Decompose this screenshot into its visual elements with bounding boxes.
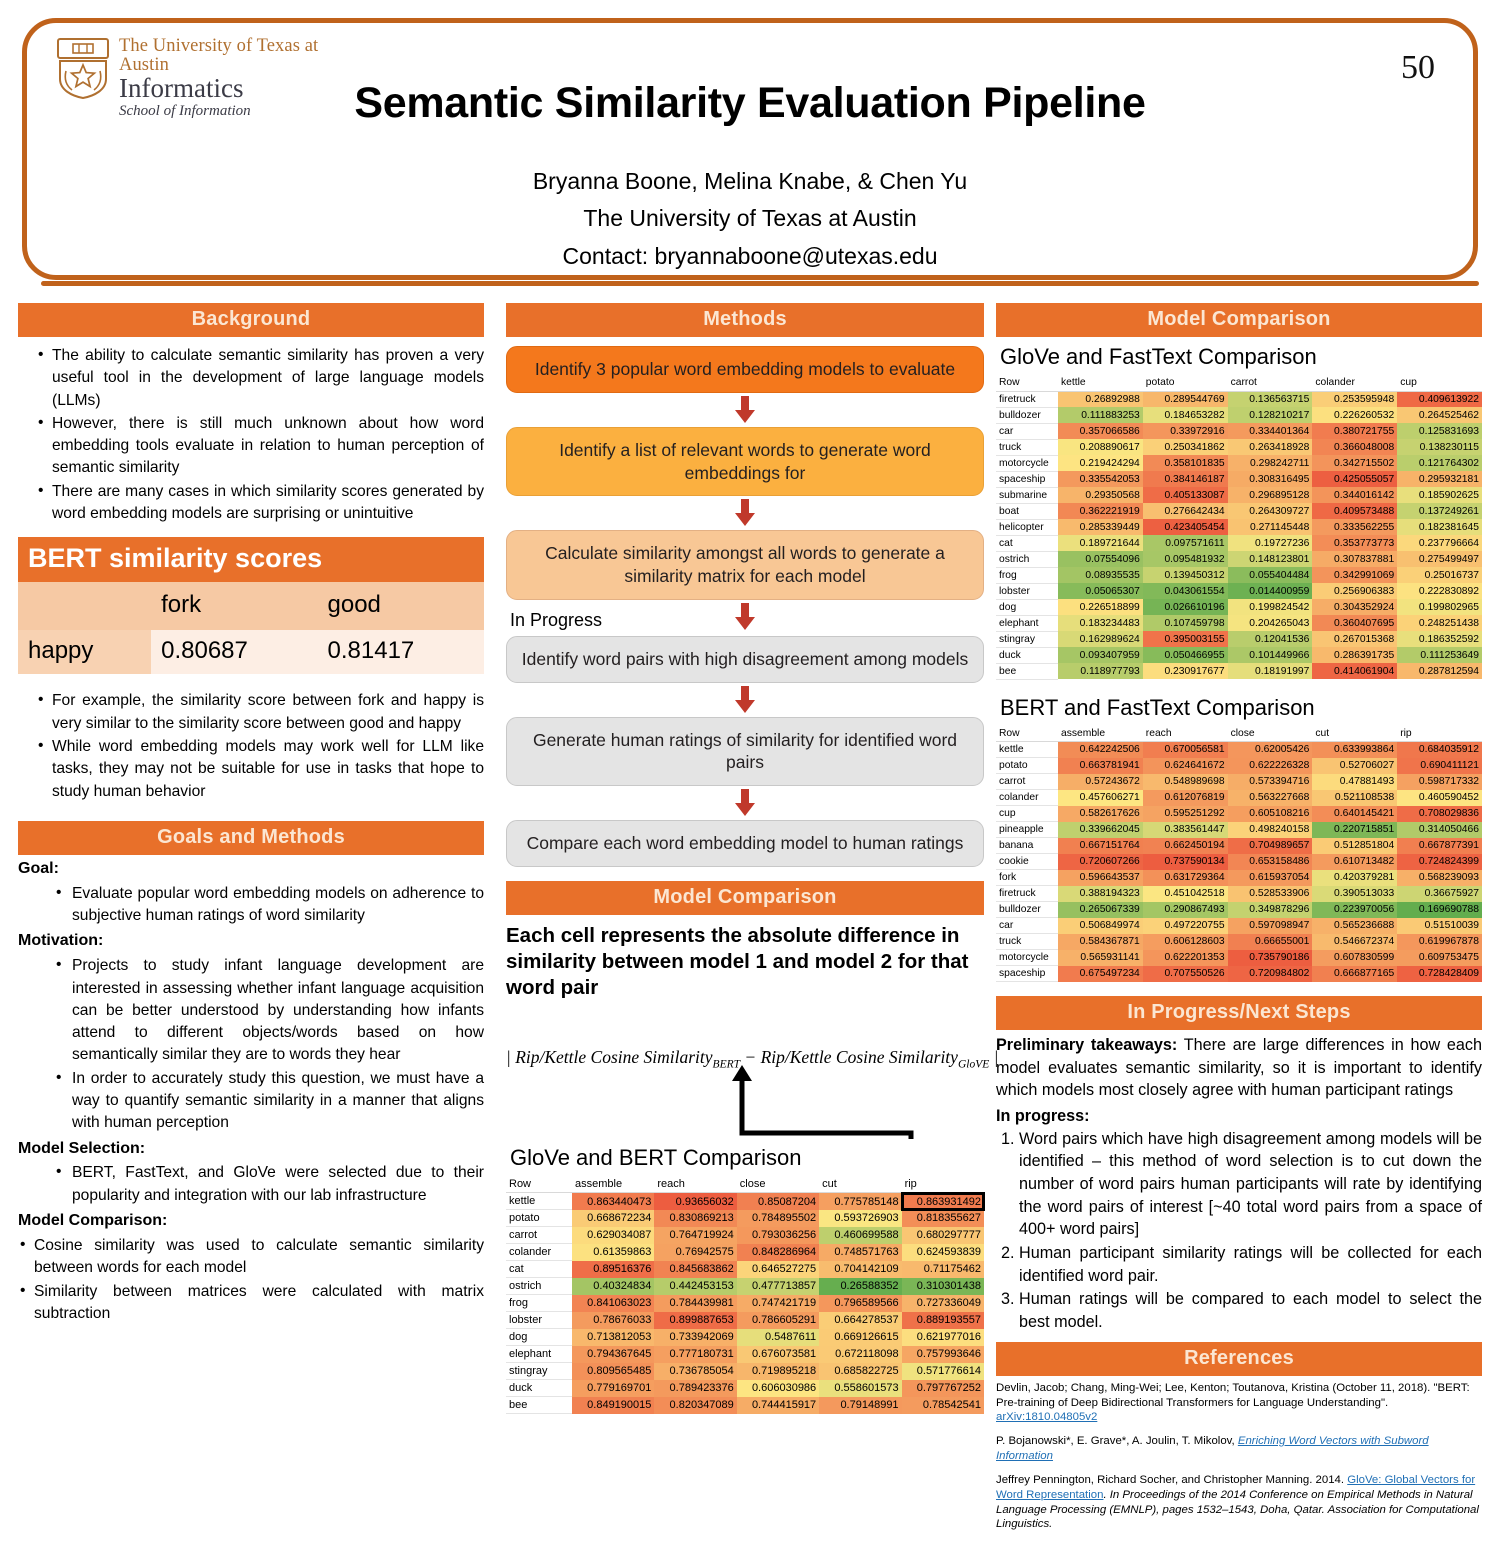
- heatmap-cell: 0.662450194: [1143, 838, 1228, 854]
- in-progress-label: In progress:: [996, 1105, 1482, 1128]
- table-header-cell: Row: [996, 726, 1058, 742]
- table-cell: 0.81417: [318, 630, 484, 674]
- heatmap-cell: 0.78542541: [902, 1397, 984, 1414]
- bert-similarity-scores-table: BERT similarity scores fork good happy 0…: [18, 537, 484, 674]
- row-label: boat: [996, 503, 1058, 519]
- heatmap-cell: 0.863440473: [572, 1193, 654, 1210]
- row-label: colander: [506, 1244, 572, 1261]
- heatmap-cell: 0.735790186: [1228, 950, 1313, 966]
- heatmap-cell: 0.08935535: [1058, 567, 1143, 583]
- row-label: kettle: [506, 1193, 572, 1210]
- table-row: submarine0.293505680.4051330870.29689512…: [996, 487, 1482, 503]
- motivation-bullets: Projects to study infant language develo…: [40, 955, 484, 1134]
- table-header-row: Row kettle potato carrot colander cup: [996, 375, 1482, 391]
- list-item: The ability to calculate semantic simila…: [38, 345, 484, 412]
- heatmap-cell: 0.139450312: [1143, 567, 1228, 583]
- heatmap-cell: 0.208890617: [1058, 439, 1143, 455]
- background-bullets: The ability to calculate semantic simila…: [18, 345, 484, 525]
- row-label: cookie: [996, 854, 1058, 870]
- heatmap-cell: 0.548989698: [1143, 774, 1228, 790]
- table-header-cell: good: [318, 582, 484, 630]
- row-label: bee: [996, 663, 1058, 679]
- heatmap-cell: 0.310301438: [902, 1278, 984, 1295]
- heatmap-cell: 0.744415917: [737, 1397, 819, 1414]
- row-label: cat: [996, 535, 1058, 551]
- section-header-goals-and-methods: Goals and Methods: [18, 821, 484, 855]
- reference-item: Jeffrey Pennington, Richard Socher, and …: [996, 1473, 1482, 1532]
- heatmap-cell: 0.383561447: [1143, 822, 1228, 838]
- list-item: Cosine similarity was used to calculate …: [20, 1235, 484, 1280]
- table-row: duck0.7791697010.7894233760.6060309860.5…: [506, 1380, 984, 1397]
- model-comparison-lead: Each cell represents the absolute differ…: [506, 923, 984, 1002]
- table-row: dog0.2265188990.0266101960.1998245420.30…: [996, 599, 1482, 615]
- heatmap-cell: 0.849190015: [572, 1397, 654, 1414]
- heatmap-cell: 0.777180731: [654, 1346, 736, 1363]
- table-row: truck0.5843678710.6061286030.666550010.5…: [996, 934, 1482, 950]
- heatmap-cell: 0.640145421: [1312, 806, 1397, 822]
- heatmap-cell: 0.622201353: [1143, 950, 1228, 966]
- heatmap-cell: 0.308316495: [1228, 471, 1313, 487]
- goal-bullets: Evaluate popular word embedding models o…: [40, 883, 484, 928]
- heatmap-cell: 0.789423376: [654, 1380, 736, 1397]
- table-header-cell: reach: [654, 1176, 736, 1193]
- heatmap-cell: 0.610713482: [1312, 854, 1397, 870]
- heatmap-cell: 0.314050466: [1397, 822, 1482, 838]
- heatmap-cell: 0.629034087: [572, 1227, 654, 1244]
- heatmap-cell: 0.786605291: [737, 1312, 819, 1329]
- heatmap-cell: 0.631729364: [1143, 870, 1228, 886]
- page-title: Semantic Similarity Evaluation Pipeline: [27, 79, 1473, 128]
- heatmap-cell: 0.672118098: [819, 1346, 901, 1363]
- table-header-cell: rip: [902, 1176, 984, 1193]
- goal-label: Goal:: [18, 858, 484, 881]
- heatmap-cell: 0.621977016: [902, 1329, 984, 1346]
- table-row: bulldozer0.2650673390.2908674930.3498782…: [996, 902, 1482, 918]
- heatmap-cell: 0.125831693: [1397, 423, 1482, 439]
- bert-fasttext-comparison-heatmap: Row assemble reach close cut rip kettle0…: [996, 726, 1482, 983]
- heatmap-cell: 0.111253649: [1397, 647, 1482, 663]
- section-header-in-progress-next-steps: In Progress/Next Steps: [996, 996, 1482, 1030]
- heatmap-cell: 0.409613922: [1397, 391, 1482, 407]
- reference-text: Devlin, Jacob; Chang, Ming-Wei; Lee, Ken…: [996, 1382, 1470, 1409]
- heatmap-cell: 0.390513033: [1312, 886, 1397, 902]
- row-label: pineapple: [996, 822, 1058, 838]
- section-header-methods: Methods: [506, 303, 984, 337]
- flow-step-3: Calculate similarity amongst all words t…: [506, 530, 984, 600]
- heatmap-cell: 0.307837881: [1312, 551, 1397, 567]
- row-label: elephant: [506, 1346, 572, 1363]
- heatmap-cell: 0.784439981: [654, 1295, 736, 1312]
- poster-header: The University of Texas at Austin Inform…: [22, 18, 1478, 280]
- table-row: colander0.4576062710.6120768190.56322766…: [996, 790, 1482, 806]
- heatmap-cell: 0.339662045: [1058, 822, 1143, 838]
- heatmap-cell: 0.78676033: [572, 1312, 654, 1329]
- heatmap-cell: 0.457606271: [1058, 790, 1143, 806]
- table-header-cell: cut: [1312, 726, 1397, 742]
- right-column: Model Comparison GloVe and FastText Comp…: [996, 303, 1482, 1541]
- row-label: car: [996, 423, 1058, 439]
- heatmap-cell: 0.182381645: [1397, 519, 1482, 535]
- row-label: lobster: [506, 1312, 572, 1329]
- glove-bert-comparison-heatmap: Row assemble reach close cut rip kettle0…: [506, 1176, 984, 1415]
- heatmap-cell: 0.33972916: [1143, 423, 1228, 439]
- list-item: While word embedding models may work wel…: [38, 736, 484, 803]
- table-row: boat0.3622219190.2766424340.2643097270.4…: [996, 503, 1482, 519]
- heatmap-cell: 0.290867493: [1143, 902, 1228, 918]
- heatmap-cell: 0.512851804: [1312, 838, 1397, 854]
- heatmap-cell: 0.380721755: [1312, 423, 1397, 439]
- row-label: kettle: [996, 742, 1058, 758]
- table-header-cell: [18, 582, 151, 630]
- heatmap-cell: 0.148123801: [1228, 551, 1313, 567]
- heatmap-cell: 0.298242711: [1228, 455, 1313, 471]
- heatmap-cell: 0.055404484: [1228, 567, 1313, 583]
- row-label: cat: [506, 1261, 572, 1278]
- heatmap-cell: 0.690411121: [1397, 758, 1482, 774]
- heatmap-cell: 0.296895128: [1228, 487, 1313, 503]
- row-label: dog: [506, 1329, 572, 1346]
- heatmap-cell: 0.199824542: [1228, 599, 1313, 615]
- heatmap-cell: 0.250341862: [1143, 439, 1228, 455]
- list-item: Similarity between matrices were calcula…: [20, 1281, 484, 1326]
- heatmap-cell: 0.219424294: [1058, 455, 1143, 471]
- heatmap-cell: 0.189721644: [1058, 535, 1143, 551]
- heatmap-cell: 0.136563715: [1228, 391, 1313, 407]
- heatmap-cell: 0.619967878: [1397, 934, 1482, 950]
- heatmap-cell: 0.304352924: [1312, 599, 1397, 615]
- heatmap-cell: 0.097571611: [1143, 535, 1228, 551]
- down-arrow-icon: [732, 789, 758, 817]
- table-row: stingray0.8095654850.7367850540.71989521…: [506, 1363, 984, 1380]
- table-row: truck0.2088906170.2503418620.2634189280.…: [996, 439, 1482, 455]
- heatmap-cell: 0.666877165: [1312, 966, 1397, 982]
- heatmap-cell: 0.26892988: [1058, 391, 1143, 407]
- row-label: spaceship: [996, 471, 1058, 487]
- heatmap-cell: 0.820347089: [654, 1397, 736, 1414]
- heatmap-cell: 0.582617626: [1058, 806, 1143, 822]
- heatmap-cell: 0.230917677: [1143, 663, 1228, 679]
- references-list: Devlin, Jacob; Chang, Ming-Wei; Lee, Ken…: [996, 1381, 1482, 1532]
- heatmap-cell: 0.848286964: [737, 1244, 819, 1261]
- row-label: bulldozer: [996, 902, 1058, 918]
- table-row: kettle0.6422425060.6700565810.620054260.…: [996, 742, 1482, 758]
- heatmap-cell: 0.66655001: [1228, 934, 1313, 950]
- heatmap-cell: 0.889193557: [902, 1312, 984, 1329]
- heatmap-cell: 0.598717332: [1397, 774, 1482, 790]
- heatmap-cell: 0.622226328: [1228, 758, 1313, 774]
- row-label: helicopter: [996, 519, 1058, 535]
- heatmap-cell: 0.52706027: [1312, 758, 1397, 774]
- heatmap-cell: 0.779169701: [572, 1380, 654, 1397]
- heatmap-cell: 0.162989624: [1058, 631, 1143, 647]
- heatmap-cell: 0.664278537: [819, 1312, 901, 1329]
- row-label: duck: [996, 647, 1058, 663]
- heatmap-cell: 0.101449966: [1228, 647, 1313, 663]
- table-row: bee0.1189777930.2309176770.181919970.414…: [996, 663, 1482, 679]
- row-label: dog: [996, 599, 1058, 615]
- table-row: happy 0.80687 0.81417: [18, 630, 484, 674]
- table-row: banana0.6671517640.6624501940.7049896570…: [996, 838, 1482, 854]
- heatmap-cell: 0.19727236: [1228, 535, 1313, 551]
- list-item: Human ratings will be compared to each m…: [1019, 1288, 1482, 1333]
- row-label: truck: [996, 439, 1058, 455]
- table-row: cookie0.7206072660.7375901340.6531584860…: [996, 854, 1482, 870]
- heatmap-cell: 0.609753475: [1397, 950, 1482, 966]
- glove-fasttext-table-title: GloVe and FastText Comparison: [1000, 344, 1482, 370]
- heatmap-cell: 0.222830892: [1397, 583, 1482, 599]
- heatmap-cell: 0.111883253: [1058, 407, 1143, 423]
- flow-arrow: [506, 393, 984, 427]
- heatmap-cell: 0.186352592: [1397, 631, 1482, 647]
- table-row: stingray0.1629896240.3950031550.12041536…: [996, 631, 1482, 647]
- heatmap-cell: 0.344016142: [1312, 487, 1397, 503]
- table-cell: 0.80687: [151, 630, 317, 674]
- row-label: duck: [506, 1380, 572, 1397]
- heatmap-cell: 0.420379281: [1312, 870, 1397, 886]
- heatmap-cell: 0.442453153: [654, 1278, 736, 1295]
- heatmap-cell: 0.295932181: [1397, 471, 1482, 487]
- takeaways-label: Preliminary takeaways:: [996, 1036, 1177, 1054]
- model-comparison-bullets: Cosine similarity was used to calculate …: [18, 1235, 484, 1325]
- table-row: spaceship0.3355420530.3841461870.3083164…: [996, 471, 1482, 487]
- heatmap-cell: 0.366048008: [1312, 439, 1397, 455]
- table-header-cell: close: [1228, 726, 1313, 742]
- background-bullets-after: For example, the similarity score betwee…: [18, 690, 484, 802]
- table-row: potato0.6686722340.8308692130.7848955020…: [506, 1210, 984, 1227]
- heatmap-cell: 0.107459798: [1143, 615, 1228, 631]
- in-progress-body: Preliminary takeaways: There are large d…: [996, 1034, 1482, 1334]
- heatmap-cell: 0.565236688: [1312, 918, 1397, 934]
- bert-fasttext-table-title: BERT and FastText Comparison: [1000, 695, 1482, 721]
- table-header-cell: colander: [1312, 375, 1397, 391]
- heatmap-cell: 0.18191997: [1228, 663, 1313, 679]
- heatmap-cell: 0.497220755: [1143, 918, 1228, 934]
- heatmap-cell: 0.612076819: [1143, 790, 1228, 806]
- heatmap-cell: 0.668672234: [572, 1210, 654, 1227]
- middle-column: Methods Identify 3 popular word embeddin…: [506, 303, 984, 1414]
- heatmap-cell: 0.498240158: [1228, 822, 1313, 838]
- heatmap-cell: 0.93656032: [654, 1193, 736, 1210]
- row-label: stingray: [996, 631, 1058, 647]
- heatmap-cell: 0.593726903: [819, 1210, 901, 1227]
- row-label: elephant: [996, 615, 1058, 631]
- row-label: carrot: [506, 1227, 572, 1244]
- heatmap-cell: 0.71175462: [902, 1261, 984, 1278]
- table-header-cell: kettle: [1058, 375, 1143, 391]
- heatmap-cell: 0.264309727: [1228, 503, 1313, 519]
- heatmap-cell: 0.204265043: [1228, 615, 1313, 631]
- heatmap-cell: 0.818355627: [902, 1210, 984, 1227]
- row-label: spaceship: [996, 966, 1058, 982]
- heatmap-cell: 0.784895502: [737, 1210, 819, 1227]
- heatmap-cell: 0.460699588: [819, 1227, 901, 1244]
- table-row: ostrich0.403248340.4424531530.4777138570…: [506, 1278, 984, 1295]
- heatmap-cell: 0.349878296: [1228, 902, 1313, 918]
- table-row: carrot0.572436720.5489896980.5733947160.…: [996, 774, 1482, 790]
- flow-step-4: Identify word pairs with high disagreeme…: [506, 636, 984, 683]
- heatmap-cell: 0.360407695: [1312, 615, 1397, 631]
- table-header-cell: assemble: [1058, 726, 1143, 742]
- table-row: motorcycle0.2194242940.3581018350.298242…: [996, 455, 1482, 471]
- heatmap-cell: 0.642242506: [1058, 742, 1143, 758]
- list-item: Evaluate popular word embedding models o…: [56, 883, 484, 928]
- row-label: carrot: [996, 774, 1058, 790]
- down-arrow-icon: [732, 603, 758, 631]
- heatmap-cell: 0.353773773: [1312, 535, 1397, 551]
- heatmap-cell: 0.796589566: [819, 1295, 901, 1312]
- heatmap-cell: 0.764719924: [654, 1227, 736, 1244]
- table-row: kettle0.8634404730.936560320.850872040.7…: [506, 1193, 984, 1210]
- heatmap-cell: 0.719895218: [737, 1363, 819, 1380]
- heatmap-cell: 0.528533906: [1228, 886, 1313, 902]
- heatmap-cell: 0.237796664: [1397, 535, 1482, 551]
- table-row: cup0.5826176260.5952512920.6051082160.64…: [996, 806, 1482, 822]
- heatmap-cell: 0.185902625: [1397, 487, 1482, 503]
- table-header-cell: Row: [506, 1176, 572, 1193]
- table-header-cell: rip: [1397, 726, 1482, 742]
- section-header-model-comparison-mid: Model Comparison: [506, 881, 984, 915]
- heatmap-cell: 0.736785054: [654, 1363, 736, 1380]
- table-header-cell: carrot: [1228, 375, 1313, 391]
- heatmap-cell: 0.675497234: [1058, 966, 1143, 982]
- heatmap-cell: 0.775785148: [819, 1193, 901, 1210]
- heatmap-cell: 0.809565485: [572, 1363, 654, 1380]
- flow-step-6: Compare each word embedding model to hum…: [506, 820, 984, 867]
- heatmap-cell: 0.184653282: [1143, 407, 1228, 423]
- table-row: frog0.089355350.1394503120.0554044840.34…: [996, 567, 1482, 583]
- table-header-cell: cup: [1397, 375, 1482, 391]
- heatmap-cell: 0.226518899: [1058, 599, 1143, 615]
- heatmap-cell: 0.606030986: [737, 1380, 819, 1397]
- heatmap-cell: 0.62005426: [1228, 742, 1313, 758]
- list-item: Projects to study infant language develo…: [56, 955, 484, 1066]
- preliminary-takeaways: Preliminary takeaways: There are large d…: [996, 1034, 1482, 1102]
- heatmap-cell: 0.5487611: [737, 1329, 819, 1346]
- heatmap-cell: 0.47881493: [1312, 774, 1397, 790]
- row-label: ostrich: [996, 551, 1058, 567]
- table-row: colander0.613598630.769425750.8482869640…: [506, 1244, 984, 1261]
- heatmap-cell: 0.342991069: [1312, 567, 1397, 583]
- row-label: motorcycle: [996, 950, 1058, 966]
- heatmap-cell: 0.263418928: [1228, 439, 1313, 455]
- heatmap-cell: 0.633993864: [1312, 742, 1397, 758]
- heatmap-cell: 0.477713857: [737, 1278, 819, 1295]
- heatmap-cell: 0.76942575: [654, 1244, 736, 1261]
- row-label: truck: [996, 934, 1058, 950]
- table-row: lobster0.786760330.8998876530.7866052910…: [506, 1312, 984, 1329]
- heatmap-cell: 0.423405454: [1143, 519, 1228, 535]
- table-header-cell: potato: [1143, 375, 1228, 391]
- model-selection-bullets: BERT, FastText, and GloVe were selected …: [40, 1162, 484, 1207]
- heatmap-cell: 0.460590452: [1397, 790, 1482, 806]
- section-header-model-comparison-right: Model Comparison: [996, 303, 1482, 337]
- heatmap-cell: 0.841063023: [572, 1295, 654, 1312]
- heatmap-cell: 0.704989657: [1228, 838, 1313, 854]
- heatmap-cell: 0.669126615: [819, 1329, 901, 1346]
- heatmap-cell: 0.169690788: [1397, 902, 1482, 918]
- row-label: motorcycle: [996, 455, 1058, 471]
- heatmap-cell: 0.26588352: [819, 1278, 901, 1295]
- heatmap-cell: 0.335542053: [1058, 471, 1143, 487]
- heatmap-cell: 0.733942069: [654, 1329, 736, 1346]
- down-arrow-icon: [732, 686, 758, 714]
- heatmap-cell: 0.899887653: [654, 1312, 736, 1329]
- list-item: There are many cases in which similarity…: [38, 481, 484, 526]
- heatmap-cell: 0.425055057: [1312, 471, 1397, 487]
- heatmap-cell: 0.724824399: [1397, 854, 1482, 870]
- table-header-cell: assemble: [572, 1176, 654, 1193]
- row-label: banana: [996, 838, 1058, 854]
- table-row: cat0.1897216440.0975716110.197272360.353…: [996, 535, 1482, 551]
- glove-fasttext-comparison-heatmap: Row kettle potato carrot colander cup fi…: [996, 375, 1482, 680]
- section-header-references: References: [996, 1342, 1482, 1376]
- heatmap-cell: 0.409573488: [1312, 503, 1397, 519]
- heatmap-cell: 0.12041536: [1228, 631, 1313, 647]
- heatmap-cell: 0.667877391: [1397, 838, 1482, 854]
- heatmap-cell: 0.362221919: [1058, 503, 1143, 519]
- left-column: Background The ability to calculate sema…: [18, 303, 484, 1326]
- heatmap-cell: 0.357066586: [1058, 423, 1143, 439]
- heatmap-cell: 0.563227668: [1228, 790, 1313, 806]
- heatmap-cell: 0.565931141: [1058, 950, 1143, 966]
- connector-area: [506, 1071, 984, 1145]
- motivation-label: Motivation:: [18, 930, 484, 953]
- heatmap-cell: 0.793036256: [737, 1227, 819, 1244]
- row-label: submarine: [996, 487, 1058, 503]
- callout-connector-icon: [506, 1065, 984, 1139]
- heatmap-cell: 0.605108216: [1228, 806, 1313, 822]
- heatmap-cell: 0.388194323: [1058, 886, 1143, 902]
- heatmap-cell: 0.747421719: [737, 1295, 819, 1312]
- table-row: car0.5068499740.4972207550.5970989470.56…: [996, 918, 1482, 934]
- flow-step-2: Identify a list of relevant words to gen…: [506, 427, 984, 497]
- heatmap-cell: 0.451042518: [1143, 886, 1228, 902]
- list-item: BERT, FastText, and GloVe were selected …: [56, 1162, 484, 1207]
- heatmap-cell: 0.707550526: [1143, 966, 1228, 982]
- heatmap-cell: 0.653158486: [1228, 854, 1313, 870]
- table-header-cell: close: [737, 1176, 819, 1193]
- row-label: potato: [506, 1210, 572, 1227]
- table-header-row: Row assemble reach close cut rip: [996, 726, 1482, 742]
- heatmap-cell: 0.342715502: [1312, 455, 1397, 471]
- row-label: potato: [996, 758, 1058, 774]
- table-row: bee0.8491900150.8203470890.7444159170.79…: [506, 1397, 984, 1414]
- heatmap-cell: 0.85087204: [737, 1193, 819, 1210]
- table-row: firetruck0.268929880.2895447690.13656371…: [996, 391, 1482, 407]
- row-label: firetruck: [996, 391, 1058, 407]
- heatmap-cell: 0.183234483: [1058, 615, 1143, 631]
- heatmap-cell: 0.093407959: [1058, 647, 1143, 663]
- heatmap-cell: 0.289544769: [1143, 391, 1228, 407]
- heatmap-cell: 0.624593839: [902, 1244, 984, 1261]
- heatmap-cell: 0.286391735: [1312, 647, 1397, 663]
- heatmap-cell: 0.265067339: [1058, 902, 1143, 918]
- authors-line: Bryanna Boone, Melina Knabe, & Chen Yu: [27, 163, 1473, 200]
- row-label: colander: [996, 790, 1058, 806]
- table-row: elephant0.7943676450.7771807310.67607358…: [506, 1346, 984, 1363]
- affiliation-line: The University of Texas at Austin: [27, 200, 1473, 237]
- heatmap-cell: 0.043061554: [1143, 583, 1228, 599]
- heatmap-cell: 0.646527275: [737, 1261, 819, 1278]
- reference-item: Devlin, Jacob; Chang, Ming-Wei; Lee, Ken…: [996, 1381, 1482, 1425]
- heatmap-cell: 0.384146187: [1143, 471, 1228, 487]
- heatmap-cell: 0.223970056: [1312, 902, 1397, 918]
- row-label: car: [996, 918, 1058, 934]
- heatmap-cell: 0.334401364: [1228, 423, 1313, 439]
- logo-university-line: The University of Texas at Austin: [119, 37, 365, 74]
- heatmap-cell: 0.25016737: [1397, 567, 1482, 583]
- reference-link[interactable]: arXiv:1810.04805v2: [996, 1411, 1097, 1423]
